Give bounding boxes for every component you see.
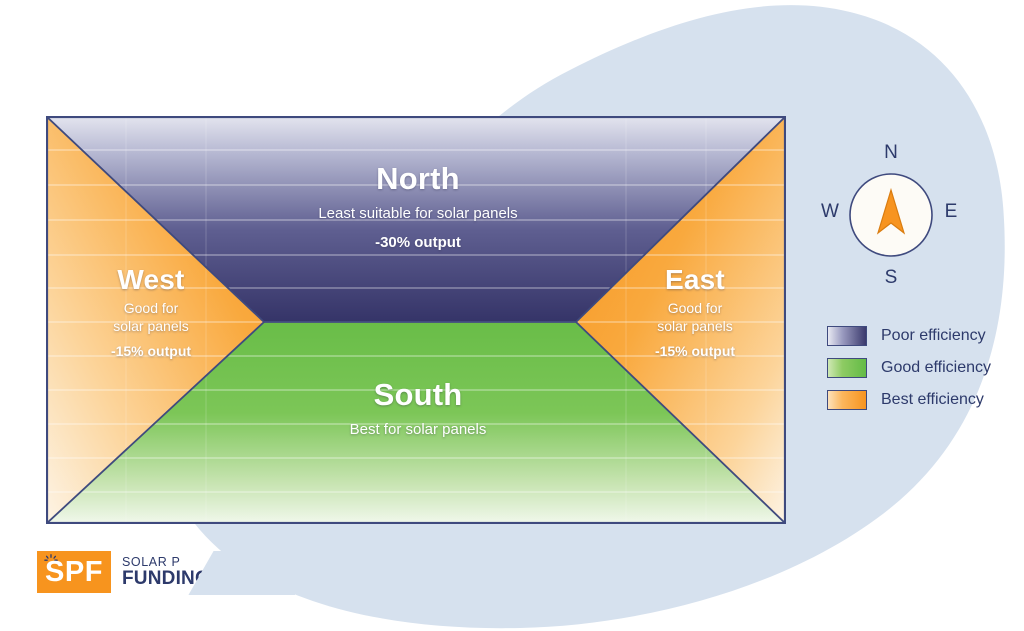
legend-swatch-good-icon: [827, 358, 867, 378]
logo-mark-spf: SPF: [37, 551, 111, 593]
legend-item-poor[interactable]: Poor efficiency: [827, 320, 1017, 352]
compass-rose: N S W E: [818, 140, 964, 290]
logo-wordmark-line2: FUNDING: [122, 569, 210, 588]
legend-label-poor: Poor efficiency: [881, 327, 986, 345]
roof-diagram-svg: [46, 116, 786, 524]
legend-label-best: Best efficiency: [881, 391, 984, 409]
roof-direction-diagram: [46, 116, 786, 524]
compass-label-east: E: [940, 202, 962, 221]
legend-swatch-best-icon: [827, 390, 867, 410]
legend-label-good: Good efficiency: [881, 359, 991, 377]
diagram-canvas: North Least suitable for solar panels -3…: [0, 0, 1024, 631]
legend: Poor efficiency Good efficiency Best eff…: [827, 320, 1017, 416]
compass-label-south: S: [880, 268, 902, 287]
compass-label-west: W: [819, 202, 841, 221]
legend-item-best[interactable]: Best efficiency: [827, 384, 1017, 416]
compass-label-north: N: [880, 143, 902, 162]
brand-logo[interactable]: SPF SOLAR P FUNDING: [37, 551, 210, 593]
logo-wordmark: SOLAR P FUNDING: [122, 556, 210, 589]
logo-wordmark-line1: SOLAR P: [122, 556, 210, 569]
legend-swatch-poor-icon: [827, 326, 867, 346]
legend-item-good[interactable]: Good efficiency: [827, 352, 1017, 384]
logo-mark-text: SPF: [37, 551, 111, 593]
